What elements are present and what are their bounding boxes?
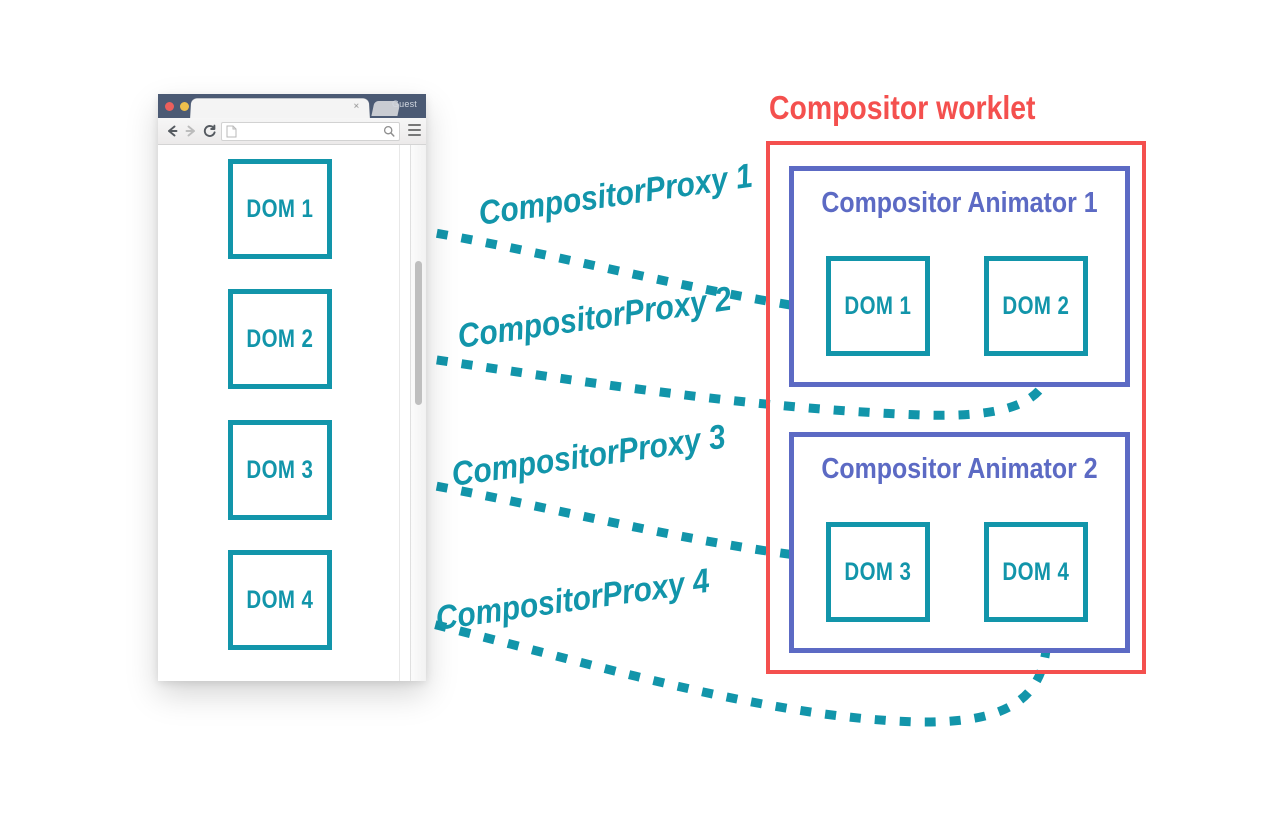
animator-dom-box-label: DOM 2 xyxy=(1003,292,1070,321)
browser-tab[interactable]: × xyxy=(190,98,370,118)
worklet-title: Compositor worklet xyxy=(769,89,1035,127)
page-dom-box-4: DOM 4 xyxy=(228,550,332,650)
forward-button[interactable] xyxy=(183,123,199,139)
minimize-window-icon[interactable] xyxy=(180,102,189,111)
compositor-animator-title: Compositor Animator 2 xyxy=(817,453,1102,486)
viewport-edge-rule xyxy=(399,145,400,681)
animator-dom-box-label: DOM 1 xyxy=(845,292,912,321)
compositor-proxy-label-3: CompositorProxy 3 xyxy=(449,418,728,495)
search-icon[interactable] xyxy=(383,125,395,143)
page-dom-box-label: DOM 3 xyxy=(247,456,314,485)
reload-icon xyxy=(203,124,217,138)
compositor-proxy-label-2: CompositorProxy 2 xyxy=(455,280,734,357)
compositor-animator-1: Compositor Animator 1 DOM 1 DOM 2 xyxy=(789,166,1130,387)
scrollbar-thumb[interactable] xyxy=(415,261,422,405)
forward-arrow-icon xyxy=(184,124,198,138)
animator-1-dom-box-1: DOM 1 xyxy=(826,256,930,356)
browser-window: × Guest xyxy=(158,94,426,680)
profile-guest-label[interactable]: Guest xyxy=(392,99,417,109)
page-dom-box-label: DOM 4 xyxy=(247,586,314,615)
animator-2-dom-box-1: DOM 3 xyxy=(826,522,930,622)
animator-dom-box-label: DOM 4 xyxy=(1003,558,1070,587)
page-dom-box-1: DOM 1 xyxy=(228,159,332,259)
compositor-animator-2: Compositor Animator 2 DOM 3 DOM 4 xyxy=(789,432,1130,653)
address-bar[interactable] xyxy=(221,122,400,141)
browser-toolbar xyxy=(158,118,426,145)
page-dom-box-label: DOM 1 xyxy=(247,195,314,224)
close-window-icon[interactable] xyxy=(165,102,174,111)
back-arrow-icon xyxy=(165,124,179,138)
hamburger-menu-icon[interactable] xyxy=(408,124,421,136)
page-dom-box-3: DOM 3 xyxy=(228,420,332,520)
scrollbar-track[interactable] xyxy=(410,145,426,681)
browser-viewport: DOM 1 DOM 2 DOM 3 DOM 4 xyxy=(158,145,426,681)
reload-button[interactable] xyxy=(202,123,218,139)
animator-1-dom-box-2: DOM 2 xyxy=(984,256,1088,356)
diagram-canvas: × Guest xyxy=(0,0,1280,815)
browser-titlebar: × Guest xyxy=(158,94,426,118)
animator-2-dom-box-2: DOM 4 xyxy=(984,522,1088,622)
compositor-proxy-label-1: CompositorProxy 1 xyxy=(476,157,755,234)
compositor-proxy-label-4: CompositorProxy 4 xyxy=(433,562,712,639)
back-button[interactable] xyxy=(164,123,180,139)
animator-dom-box-label: DOM 3 xyxy=(845,558,912,587)
compositor-animator-title: Compositor Animator 1 xyxy=(817,187,1102,220)
close-tab-icon[interactable]: × xyxy=(353,102,359,112)
page-dom-box-label: DOM 2 xyxy=(247,325,314,354)
page-dom-box-2: DOM 2 xyxy=(228,289,332,389)
page-icon xyxy=(226,125,237,143)
